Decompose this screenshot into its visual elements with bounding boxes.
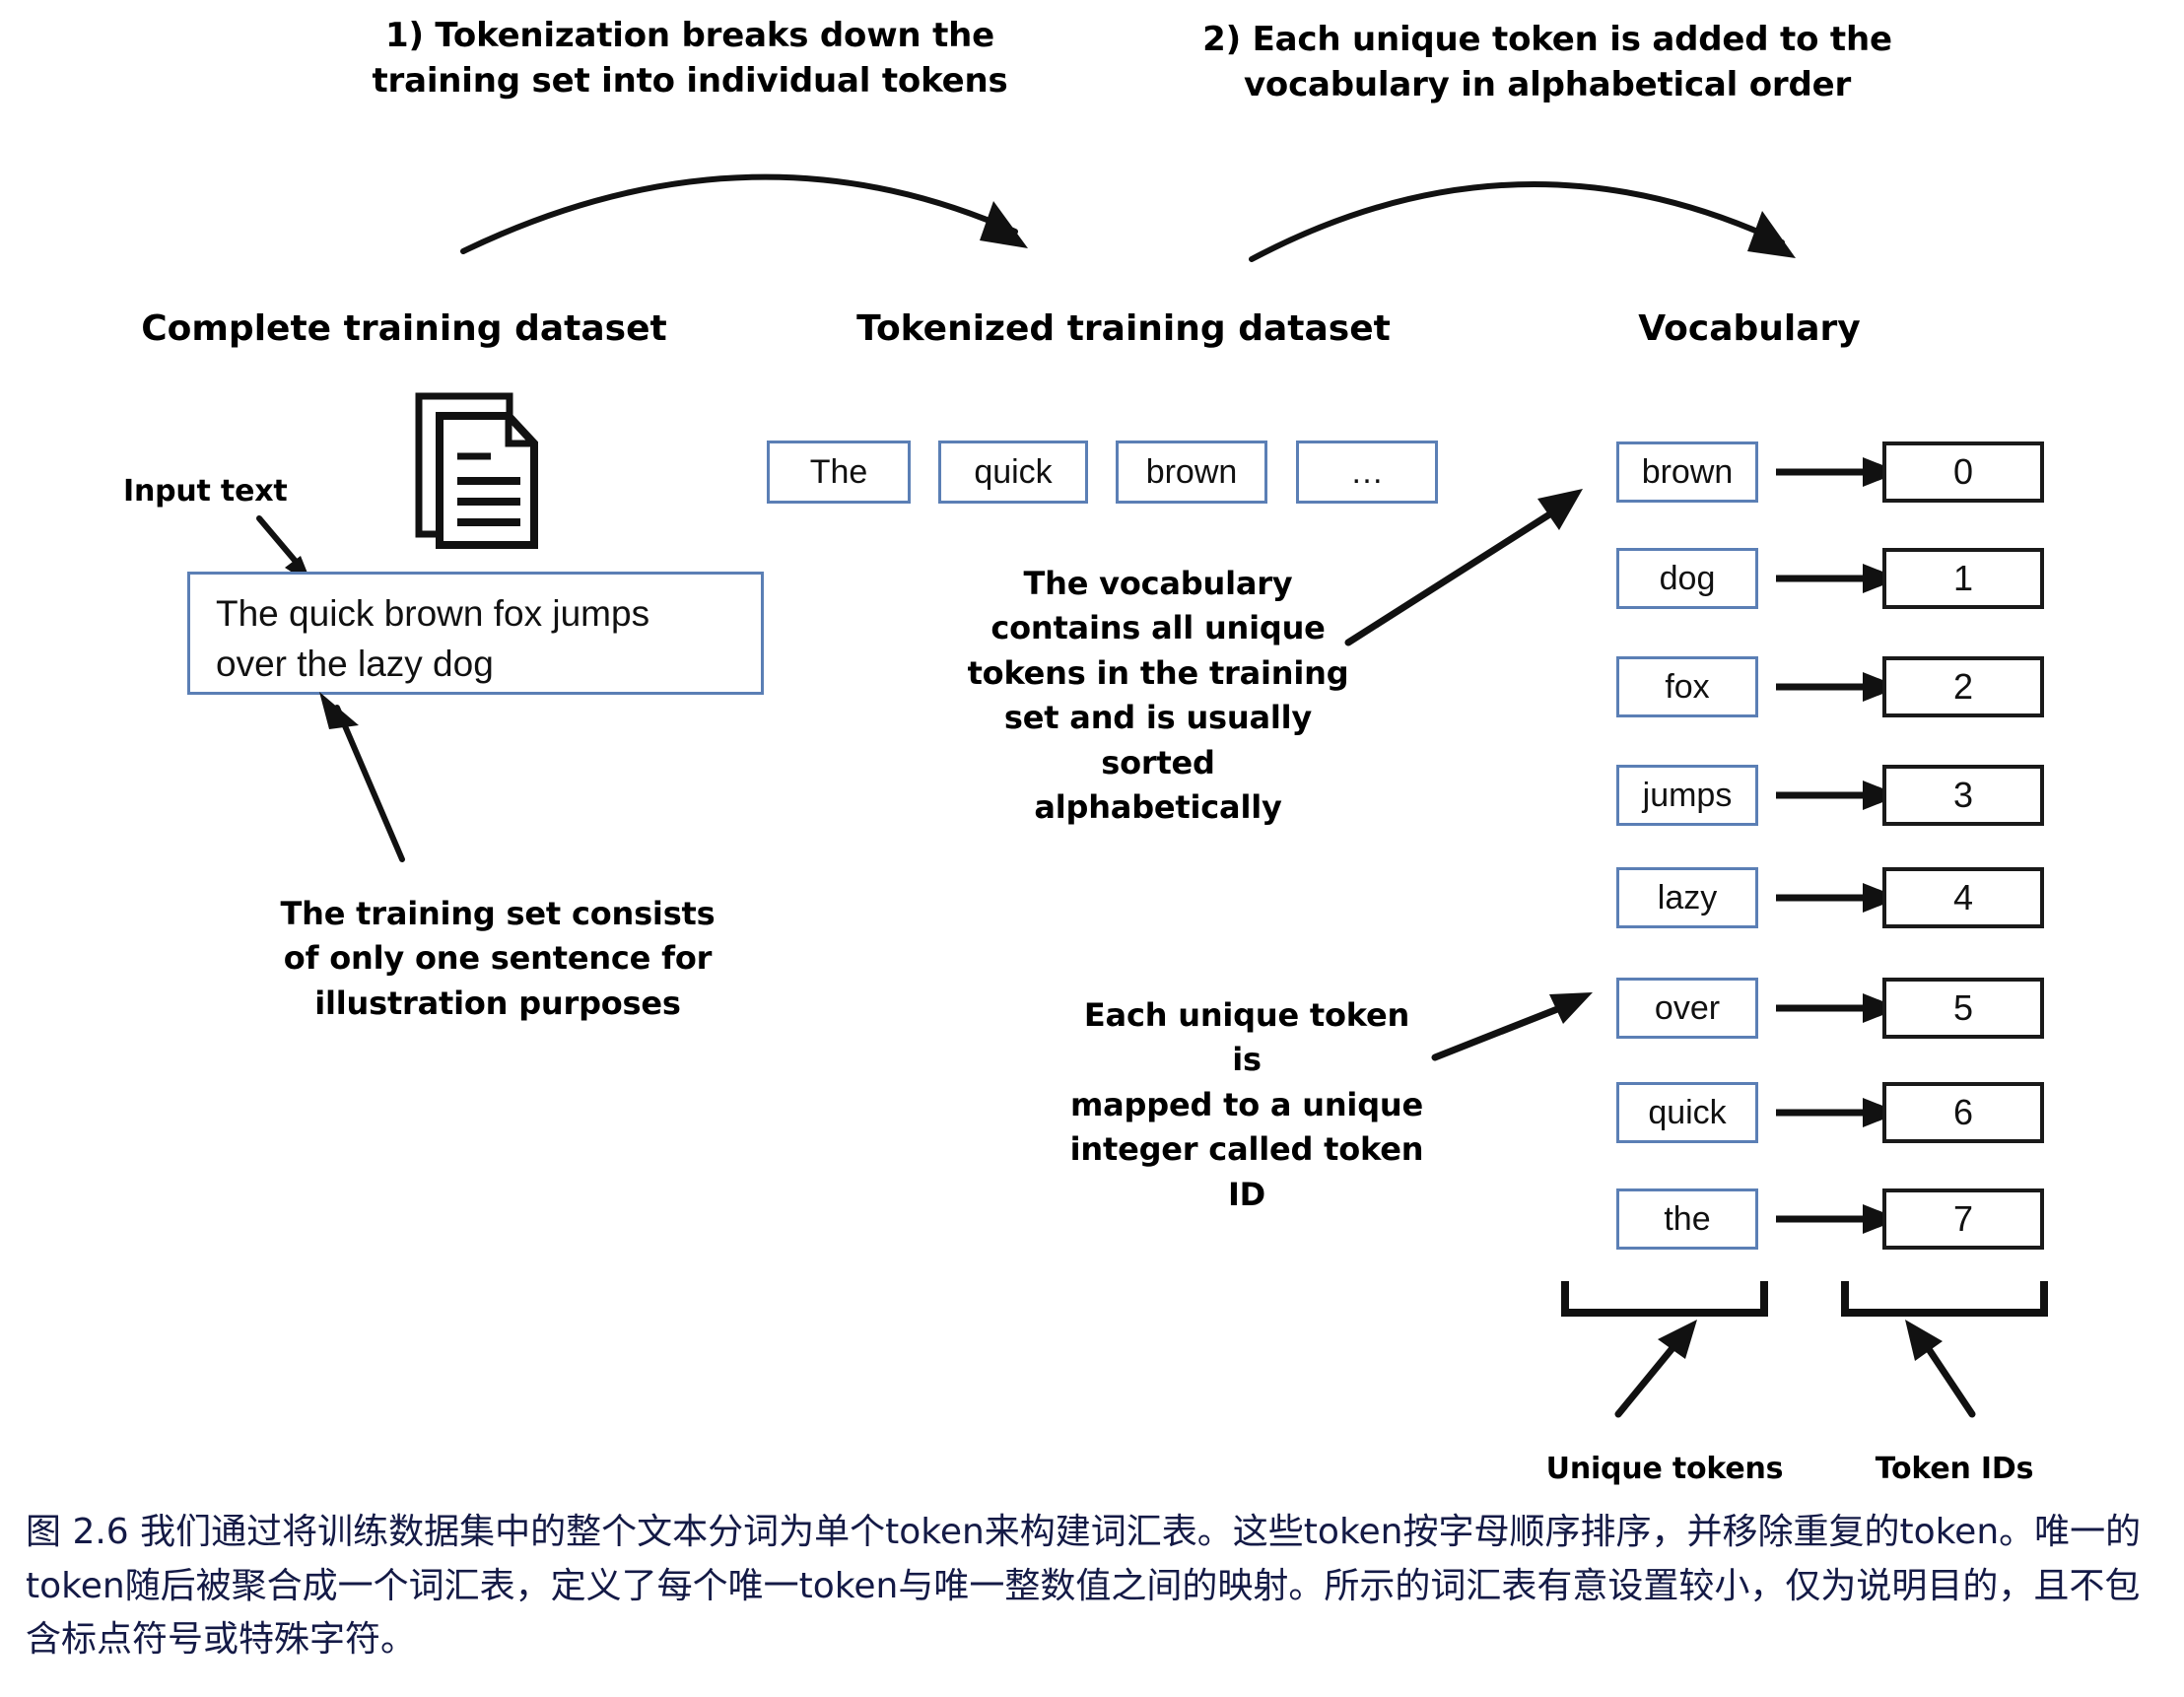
step-1-arrow	[453, 138, 1064, 266]
vocab-id-box-2[interactable]: 2	[1882, 656, 2044, 717]
section-title-complete-training-dataset: Complete training dataset	[89, 308, 719, 349]
vocab-id-box-7[interactable]: 7	[1882, 1188, 2044, 1250]
vocab-id-box-0[interactable]: 0	[1882, 441, 2044, 503]
training-set-note-arrow	[315, 690, 434, 867]
vocab-token-box-3[interactable]: jumps	[1616, 765, 1758, 826]
vocab-id-box-3[interactable]: 3	[1882, 765, 2044, 826]
vocabulary-note: The vocabulary contains all unique token…	[946, 562, 1370, 831]
token-box-0[interactable]: The	[767, 441, 911, 504]
step-2-arrow	[1242, 146, 1853, 274]
input-text-label: Input text	[123, 471, 330, 513]
vocab-token-box-2[interactable]: fox	[1616, 656, 1758, 717]
vocab-id-box-5[interactable]: 5	[1882, 978, 2044, 1039]
vocab-token-box-5[interactable]: over	[1616, 978, 1758, 1039]
vocab-token-box-1[interactable]: dog	[1616, 548, 1758, 609]
token-ids-arrow	[1897, 1316, 2015, 1424]
token-id-note-arrow	[1429, 981, 1597, 1069]
training-set-note: The training set consists of only one se…	[261, 892, 734, 1026]
token-id-note: Each unique token is mapped to a unique …	[1064, 993, 1429, 1217]
step-2-annotation: 2) Each unique token is added to the voc…	[1183, 18, 1912, 108]
vocab-id-box-4[interactable]: 4	[1882, 867, 2044, 928]
unique-tokens-label: Unique tokens	[1482, 1449, 1847, 1491]
vocab-token-box-7[interactable]: the	[1616, 1188, 1758, 1250]
figure-canvas: 1) Tokenization breaks down the training…	[0, 0, 2184, 1697]
step-1-annotation: 1) Tokenization breaks down the training…	[325, 14, 1055, 104]
vocab-token-box-0[interactable]: brown	[1616, 441, 1758, 503]
vocab-token-box-6[interactable]: quick	[1616, 1082, 1758, 1143]
unique-tokens-arrow	[1606, 1316, 1725, 1424]
token-box-1[interactable]: quick	[938, 441, 1088, 504]
token-box-2[interactable]: brown	[1116, 441, 1267, 504]
vocab-id-box-1[interactable]: 1	[1882, 548, 2044, 609]
figure-caption: 图 2.6 我们通过将训练数据集中的整个文本分词为单个token来构建词汇表。这…	[26, 1506, 2160, 1667]
section-title-tokenized-training-dataset: Tokenized training dataset	[808, 308, 1439, 349]
vocabulary-note-arrow	[1340, 483, 1587, 650]
vocab-id-box-6[interactable]: 6	[1882, 1082, 2044, 1143]
section-title-vocabulary: Vocabulary	[1537, 308, 1961, 349]
token-ids-label: Token IDs	[1802, 1449, 2107, 1491]
documents-icon	[414, 392, 542, 550]
vocab-token-box-4[interactable]: lazy	[1616, 867, 1758, 928]
input-text-box[interactable]: The quick brown fox jumps over the lazy …	[187, 572, 764, 695]
